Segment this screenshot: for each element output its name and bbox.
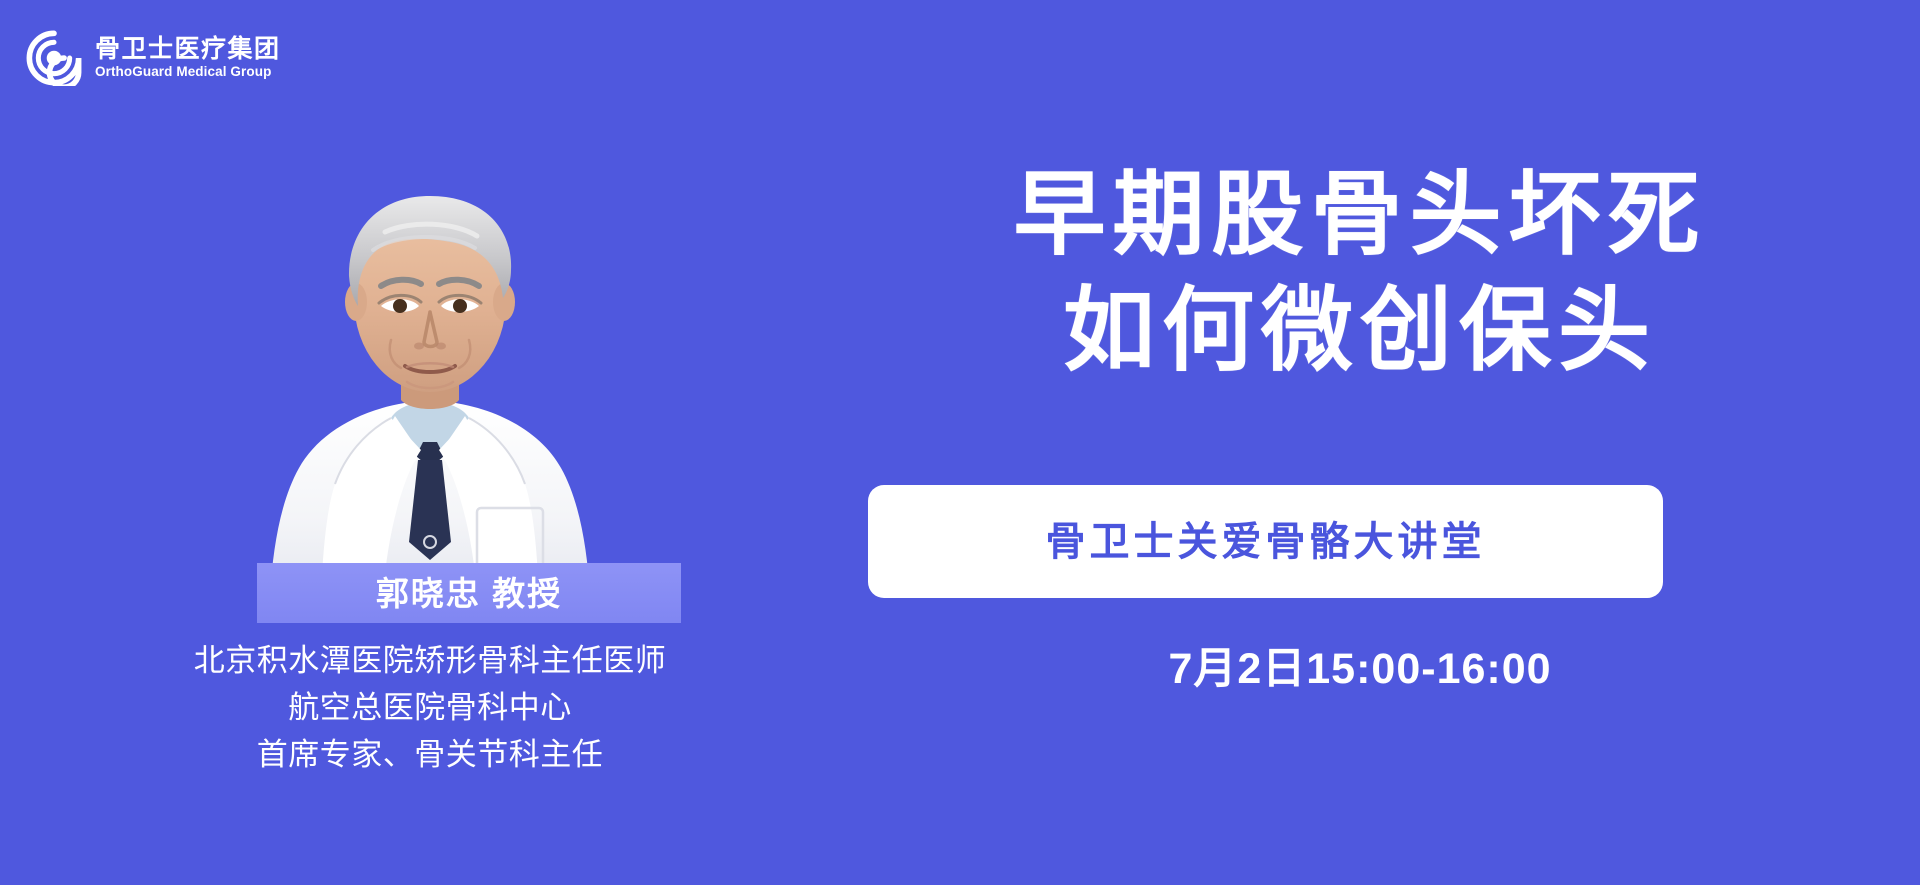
page-title: 早期股骨头坏死 如何微创保头 <box>860 158 1860 390</box>
speaker-photo-wrap: 郭晓忠 教授 <box>215 150 645 595</box>
brand-name-en: OrthoGuard Medical Group <box>95 65 281 79</box>
webinar-poster: 骨卫士医疗集团 OrthoGuard Medical Group <box>0 0 1920 885</box>
credential-line: 航空总医院骨科中心 <box>288 688 572 729</box>
speaker-credentials: 北京积水潭医院矫形骨科主任医师 航空总医院骨科中心 首席专家、骨关节科主任 <box>194 641 667 776</box>
title-line-1: 早期股骨头坏死 <box>1013 158 1706 274</box>
brand-name-cn: 骨卫士医疗集团 <box>95 37 281 62</box>
speaker-portrait <box>215 150 645 595</box>
speaker-section: 郭晓忠 教授 北京积水潭医院矫形骨科主任医师 航空总医院骨科中心 首席专家、骨关… <box>0 150 860 776</box>
schedule-datetime: 7月2日15:00-16:00 <box>860 648 1860 691</box>
concentric-spiral-icon <box>26 30 82 86</box>
title-line-2: 如何微创保头 <box>1063 274 1657 390</box>
brand-logo-texts: 骨卫士医疗集团 OrthoGuard Medical Group <box>95 37 281 79</box>
content-section: 早期股骨头坏死 如何微创保头 骨卫士关爱骨骼大讲堂 7月2日15:00-16:0… <box>860 0 1920 885</box>
brand-logo: 骨卫士医疗集团 OrthoGuard Medical Group <box>26 30 281 86</box>
credential-line: 北京积水潭医院矫形骨科主任医师 <box>194 641 667 682</box>
speaker-nameplate: 郭晓忠 教授 <box>257 563 681 623</box>
credential-line: 首席专家、骨关节科主任 <box>257 735 604 776</box>
program-ribbon: 骨卫士关爱骨骼大讲堂 <box>868 485 1663 598</box>
program-ribbon-label: 骨卫士关爱骨骼大讲堂 <box>1046 522 1486 562</box>
speaker-name: 郭晓忠 教授 <box>376 577 562 610</box>
